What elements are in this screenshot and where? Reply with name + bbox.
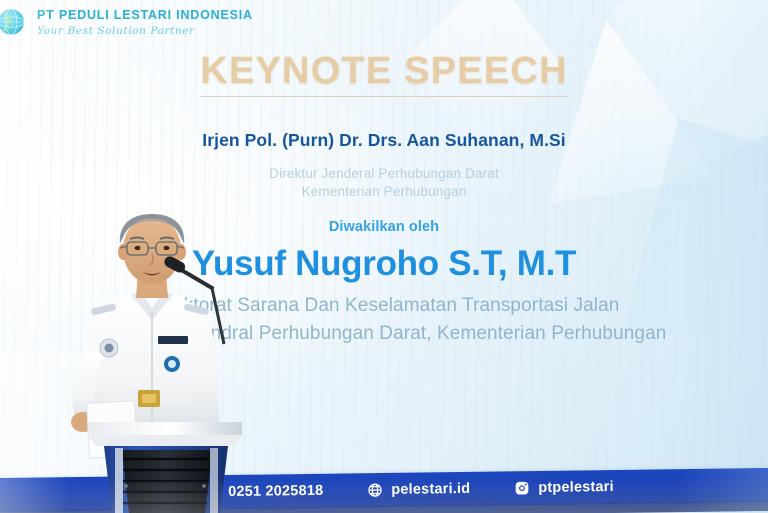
podium-top	[88, 422, 242, 435]
presentation-photo: PT PEDULI LESTARI INDONESIA Your Best So…	[0, 0, 768, 513]
brand-header: PT PEDULI LESTARI INDONESIA Your Best So…	[0, 4, 253, 40]
instagram-icon	[514, 480, 530, 496]
contact-instagram[interactable]: ptpelestari	[514, 479, 614, 496]
speaker-name: Irjen Pol. (Purn) Dr. Drs. Aan Suhanan, …	[8, 130, 760, 151]
globe-logo-icon	[0, 4, 30, 40]
speaker-at-podium	[52, 196, 267, 513]
globe-icon	[367, 482, 383, 498]
company-tagline: Your Best Solution Partner	[37, 26, 253, 37]
page-title: KEYNOTE SPEECH	[200, 52, 567, 97]
speaker-illustration	[52, 196, 267, 513]
contact-instagram-label: ptpelestari	[538, 479, 614, 496]
speaker-role-line-1: Direktur Jenderal Perhubungan Darat	[8, 165, 760, 183]
contact-website-label: pelestari.id	[391, 481, 470, 498]
contact-website[interactable]: pelestari.id	[367, 481, 470, 498]
company-name: PT PEDULI LESTARI INDONESIA	[37, 9, 253, 22]
speaker-head	[123, 216, 181, 284]
brand-text: PT PEDULI LESTARI INDONESIA Your Best So…	[37, 9, 253, 36]
